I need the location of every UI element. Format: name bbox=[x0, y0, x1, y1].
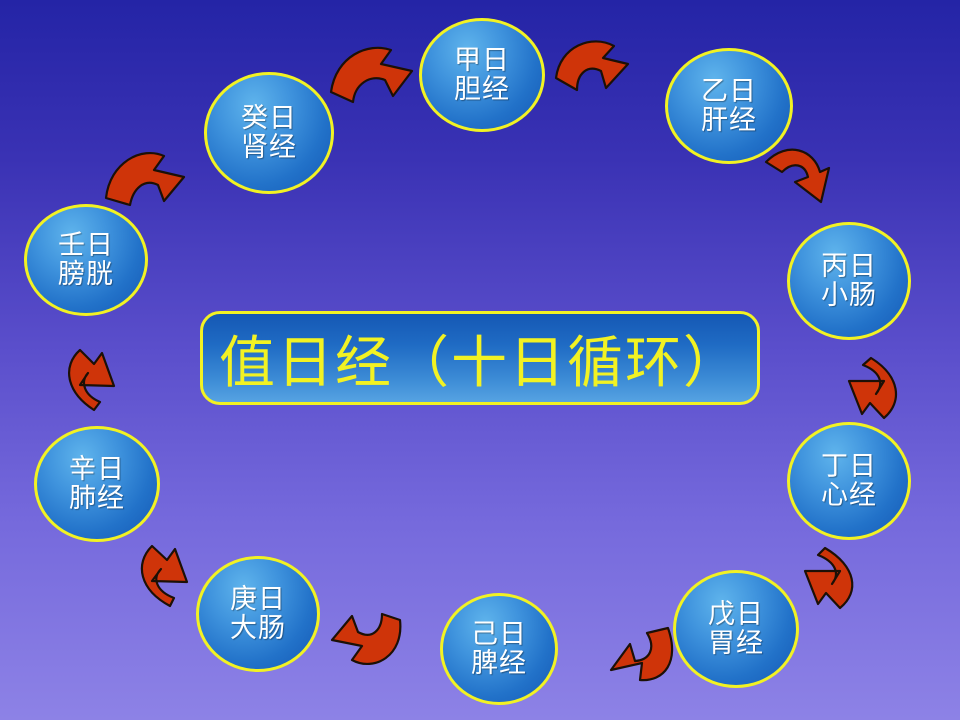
node-day-label: 丙日 bbox=[821, 252, 877, 281]
node-meridian-label: 脾经 bbox=[471, 649, 527, 678]
cycle-node-geng[interactable]: 庚日 大肠 bbox=[196, 556, 320, 672]
node-meridian-label: 膀胱 bbox=[58, 260, 114, 289]
arrow-ding-to-wu bbox=[805, 548, 852, 608]
arrow-xin-to-ren bbox=[69, 350, 114, 410]
node-day-label: 庚日 bbox=[230, 585, 286, 614]
slide-title: 值日经（十日循环） bbox=[219, 318, 741, 399]
node-meridian-label: 肾经 bbox=[241, 133, 297, 162]
cycle-node-bing[interactable]: 丙日 小肠 bbox=[787, 222, 911, 340]
node-day-label: 己日 bbox=[471, 620, 527, 649]
center-title-box: 值日经（十日循环） bbox=[200, 311, 760, 405]
arrow-ren-to-gui bbox=[106, 153, 184, 205]
node-meridian-label: 小肠 bbox=[821, 281, 877, 310]
node-meridian-label: 胆经 bbox=[454, 75, 510, 104]
arrow-jia-to-yi bbox=[556, 41, 628, 90]
node-day-label: 癸日 bbox=[241, 104, 297, 133]
cycle-node-ji[interactable]: 己日 脾经 bbox=[440, 593, 558, 705]
arrow-wu-to-ji bbox=[611, 628, 672, 680]
arrow-yi-to-bing bbox=[766, 150, 829, 202]
arrow-bing-to-ding bbox=[849, 358, 896, 418]
arrow-geng-to-xin bbox=[142, 546, 187, 606]
cycle-node-jia[interactable]: 甲日 胆经 bbox=[419, 18, 545, 132]
node-day-label: 壬日 bbox=[58, 231, 114, 260]
node-meridian-label: 肺经 bbox=[69, 484, 125, 513]
node-day-label: 戊日 bbox=[708, 600, 764, 629]
cycle-node-gui[interactable]: 癸日 肾经 bbox=[204, 72, 334, 194]
node-day-label: 甲日 bbox=[454, 46, 510, 75]
node-meridian-label: 心经 bbox=[821, 481, 877, 510]
node-day-label: 丁日 bbox=[821, 452, 877, 481]
arrow-ji-to-geng bbox=[332, 614, 400, 664]
node-meridian-label: 肝经 bbox=[701, 106, 757, 135]
cycle-node-wu[interactable]: 戊日 胃经 bbox=[673, 570, 799, 688]
cycle-node-ren[interactable]: 壬日 膀胱 bbox=[24, 204, 148, 316]
node-day-label: 乙日 bbox=[701, 77, 757, 106]
cycle-node-yi[interactable]: 乙日 肝经 bbox=[665, 48, 793, 164]
node-meridian-label: 胃经 bbox=[708, 629, 764, 658]
cycle-node-ding[interactable]: 丁日 心经 bbox=[787, 422, 911, 540]
node-day-label: 辛日 bbox=[69, 455, 125, 484]
slide-canvas: 甲日 胆经 乙日 肝经 丙日 小肠 丁日 心经 戊日 胃经 己日 脾经 庚日 大… bbox=[0, 0, 960, 720]
arrow-gui-to-jia bbox=[331, 48, 412, 102]
cycle-node-xin[interactable]: 辛日 肺经 bbox=[34, 426, 160, 542]
node-meridian-label: 大肠 bbox=[230, 614, 286, 643]
